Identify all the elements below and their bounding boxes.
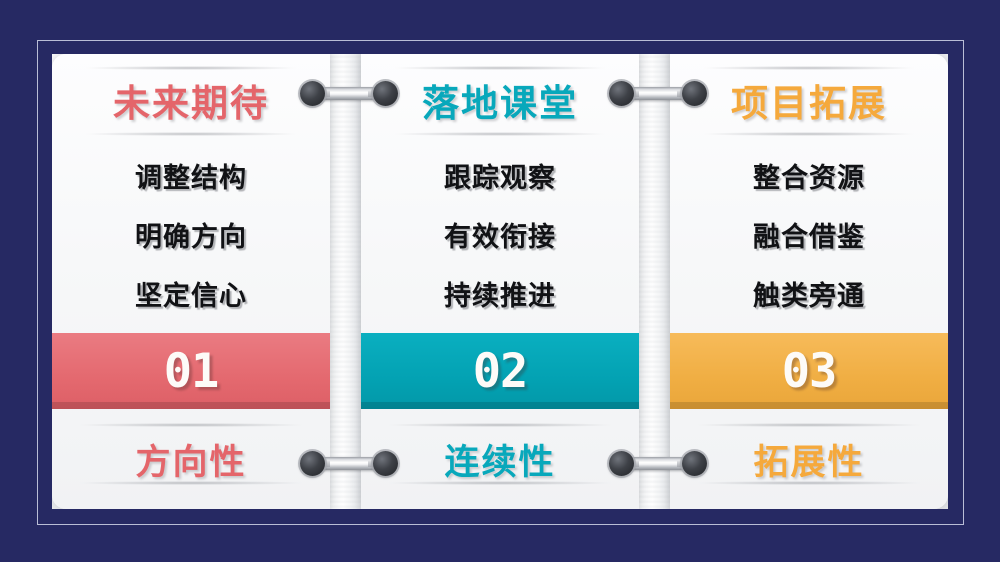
card-03-line-1: 整合资源 [753,156,865,195]
card-03-footer-plate: 拓展性 [670,409,948,509]
card-01-line-1: 调整结构 [135,156,247,195]
card-03[interactable]: 项目拓展 整合资源 融合借鉴 触类旁通 03 拓展性 [670,54,948,509]
card-01-number: 01 [164,344,219,399]
card-01-footer-plate: 方向性 [52,409,330,509]
card-02-line-3: 持续推进 [444,274,556,313]
slide-panel: 未来期待 调整结构 明确方向 坚定信心 01 方向性 落地课堂 跟踪观察 有效衔… [52,54,948,509]
card-02[interactable]: 落地课堂 跟踪观察 有效衔接 持续推进 02 连续性 [361,54,639,509]
card-02-title-plate: 落地课堂 [361,62,639,138]
ring-cap-right [373,81,398,106]
binder-ring-top-right-icon [609,81,707,105]
card-03-line-3: 触类旁通 [753,274,865,313]
slide-stage: 未来期待 调整结构 明确方向 坚定信心 01 方向性 落地课堂 跟踪观察 有效衔… [0,0,1000,562]
ring-cap-left [609,81,634,106]
card-03-number: 03 [782,344,837,399]
card-03-line-2: 融合借鉴 [753,215,865,254]
card-03-footer-label: 拓展性 [753,434,864,485]
binder-spine-left [324,54,364,509]
card-01-lines: 调整结构 明确方向 坚定信心 [52,138,330,333]
card-03-number-band: 03 [670,333,948,409]
card-03-lines: 整合资源 融合借鉴 触类旁通 [670,138,948,333]
binder-ring-bottom-left-icon [300,451,398,475]
card-02-footer-plate: 连续性 [361,409,639,509]
ring-cap-left [300,81,325,106]
card-01-title: 未来期待 [113,73,269,127]
card-03-title-plate: 项目拓展 [670,62,948,138]
card-02-footer-label: 连续性 [444,434,555,485]
card-01-footer-label: 方向性 [135,434,246,485]
card-01-line-3: 坚定信心 [135,274,247,313]
card-01-line-2: 明确方向 [135,215,247,254]
card-01-title-plate: 未来期待 [52,62,330,138]
card-02-line-2: 有效衔接 [444,215,556,254]
ring-cap-right [682,451,707,476]
card-01-number-band: 01 [52,333,330,409]
card-02-lines: 跟踪观察 有效衔接 持续推进 [361,138,639,333]
card-02-number-band: 02 [361,333,639,409]
card-02-title: 落地课堂 [422,73,578,127]
ring-cap-right [682,81,707,106]
card-03-title: 项目拓展 [731,73,887,127]
ring-cap-left [300,451,325,476]
card-02-line-1: 跟踪观察 [444,156,556,195]
binder-ring-top-left-icon [300,81,398,105]
card-02-number: 02 [473,344,528,399]
ring-cap-right [373,451,398,476]
binder-ring-bottom-right-icon [609,451,707,475]
ring-cap-left [609,451,634,476]
card-01[interactable]: 未来期待 调整结构 明确方向 坚定信心 01 方向性 [52,54,330,509]
binder-spine-right [633,54,673,509]
